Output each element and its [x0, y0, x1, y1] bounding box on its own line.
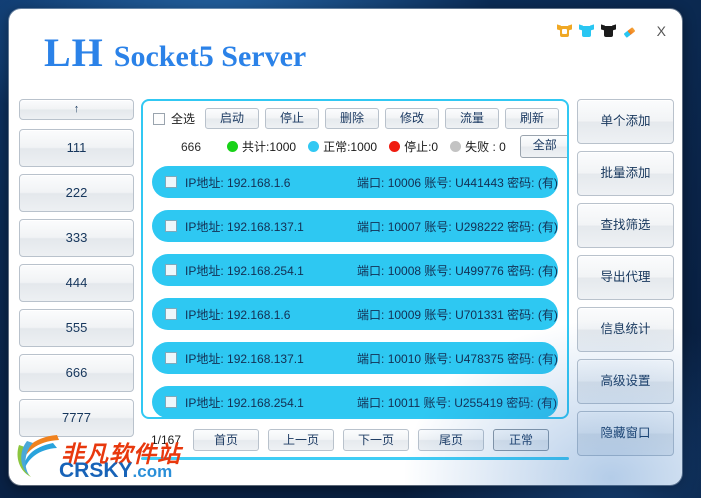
- page-title: LHSocket5 Server: [44, 33, 306, 73]
- search-filter-button[interactable]: 查找筛选: [577, 203, 674, 248]
- scroll-up-button[interactable]: ↑: [19, 99, 134, 120]
- filter-all-button[interactable]: 全部: [520, 135, 569, 158]
- row-checkbox[interactable]: [165, 220, 177, 232]
- stop-button[interactable]: 停止: [265, 108, 319, 129]
- row-checkbox[interactable]: [165, 396, 177, 408]
- row-checkbox[interactable]: [165, 308, 177, 320]
- pagination-underline: [141, 457, 569, 460]
- table-row[interactable]: IP地址: 192.168.137.1 端口: 10007 账号: U29822…: [152, 210, 558, 242]
- sidebar-item-444[interactable]: 444: [19, 264, 134, 302]
- row-details: 端口: 10009 账号: U701331 密码: (有): [357, 306, 558, 323]
- app-title-secondary: Socket5 Server: [114, 40, 306, 73]
- table-row[interactable]: IP地址: 192.168.137.1 端口: 10010 账号: U47837…: [152, 342, 558, 374]
- sidebar-item-333[interactable]: 333: [19, 219, 134, 257]
- left-sidebar: ↑ 111 222 333 444 555 666 7777: [19, 99, 134, 444]
- status-badge-stopped: 停止:0: [404, 138, 438, 155]
- status-badge-failed: 失败 : 0: [465, 138, 506, 155]
- sidebar-item-7777[interactable]: 7777: [19, 399, 134, 437]
- row-details: 端口: 10006 账号: U441443 密码: (有): [357, 174, 558, 191]
- add-batch-button[interactable]: 批量添加: [577, 151, 674, 196]
- row-details: 端口: 10011 账号: U255419 密码: (有): [357, 394, 557, 411]
- export-proxy-button[interactable]: 导出代理: [577, 255, 674, 300]
- table-row[interactable]: IP地址: 192.168.254.1 端口: 10008 账号: U49977…: [152, 254, 558, 286]
- row-details: 端口: 10008 账号: U499776 密码: (有): [357, 262, 558, 279]
- status-dot-failed: [450, 141, 461, 152]
- row-ip: IP地址: 192.168.137.1: [185, 350, 357, 367]
- shirt-black-icon[interactable]: [601, 23, 616, 38]
- select-all-checkbox[interactable]: [153, 113, 165, 125]
- toolbar: 全选 启动 停止 删除 修改 流量 刷新: [143, 101, 567, 129]
- proxy-list-panel: 全选 启动 停止 删除 修改 流量 刷新 666 共计:1000 正常:1000…: [141, 99, 569, 419]
- table-row[interactable]: IP地址: 192.168.1.6 端口: 10006 账号: U441443 …: [152, 166, 558, 198]
- row-checkbox[interactable]: [165, 352, 177, 364]
- row-details: 端口: 10007 账号: U298222 密码: (有): [357, 218, 558, 235]
- info-stats-button[interactable]: 信息统计: [577, 307, 674, 352]
- sidebar-item-222[interactable]: 222: [19, 174, 134, 212]
- table-row[interactable]: IP地址: 192.168.254.1 端口: 10011 账号: U25541…: [152, 386, 558, 418]
- title-bar-icon-group: X: [557, 23, 666, 38]
- status-dot-total: [227, 141, 238, 152]
- traffic-button[interactable]: 流量: [445, 108, 499, 129]
- modify-button[interactable]: 修改: [385, 108, 439, 129]
- row-ip: IP地址: 192.168.1.6: [185, 306, 357, 323]
- shirt-orange-icon[interactable]: [557, 23, 572, 38]
- add-single-button[interactable]: 单个添加: [577, 99, 674, 144]
- watermark-text-en: CRSKY.com: [59, 459, 172, 483]
- watermark-brand: CRSKY: [59, 459, 133, 482]
- row-ip: IP地址: 192.168.254.1: [185, 394, 357, 411]
- prev-page-button[interactable]: 上一页: [268, 429, 334, 451]
- row-checkbox[interactable]: [165, 264, 177, 276]
- app-title-primary: LH: [44, 30, 104, 75]
- sidebar-item-555[interactable]: 555: [19, 309, 134, 347]
- first-page-button[interactable]: 首页: [193, 429, 259, 451]
- watermark-tld: .com: [133, 462, 173, 481]
- shirt-cyan-icon[interactable]: [579, 23, 594, 38]
- pencil-icon[interactable]: [623, 23, 638, 38]
- refresh-button[interactable]: 刷新: [505, 108, 559, 129]
- status-dot-stopped: [389, 141, 400, 152]
- row-ip: IP地址: 192.168.1.6: [185, 174, 357, 191]
- row-ip: IP地址: 192.168.137.1: [185, 218, 357, 235]
- hide-window-button[interactable]: 隐藏窗口: [577, 411, 674, 456]
- right-sidebar: 单个添加 批量添加 查找筛选 导出代理 信息统计 高级设置 隐藏窗口: [577, 99, 674, 463]
- last-page-button[interactable]: 尾页: [418, 429, 484, 451]
- status-dot-normal: [308, 141, 319, 152]
- proxy-list: IP地址: 192.168.1.6 端口: 10006 账号: U441443 …: [143, 158, 567, 418]
- page-indicator: 1/167: [151, 433, 181, 447]
- status-summary: 666 共计:1000 正常:1000 停止:0 失败 : 0 全部: [143, 129, 567, 158]
- close-button[interactable]: X: [657, 24, 666, 38]
- delete-button[interactable]: 删除: [325, 108, 379, 129]
- advanced-settings-button[interactable]: 高级设置: [577, 359, 674, 404]
- window-body: ↑ 111 222 333 444 555 666 7777 全选 启动 停止 …: [9, 91, 682, 485]
- title-bar: LHSocket5 Server X: [9, 9, 682, 91]
- row-details: 端口: 10010 账号: U478375 密码: (有): [357, 350, 558, 367]
- row-ip: IP地址: 192.168.254.1: [185, 262, 357, 279]
- status-badge-normal: 正常:1000: [323, 138, 377, 155]
- stats-count: 666: [181, 140, 201, 154]
- table-row[interactable]: IP地址: 192.168.1.6 端口: 10009 账号: U701331 …: [152, 298, 558, 330]
- start-button[interactable]: 启动: [205, 108, 259, 129]
- app-window: LHSocket5 Server X ↑ 111 222 333 444 555…: [9, 9, 682, 485]
- row-checkbox[interactable]: [165, 176, 177, 188]
- select-all-label: 全选: [171, 110, 195, 127]
- pagination-bar: 1/167 首页 上一页 下一页 尾页 正常: [141, 429, 569, 451]
- status-badge[interactable]: 正常: [493, 429, 549, 451]
- next-page-button[interactable]: 下一页: [343, 429, 409, 451]
- desktop-background: LHSocket5 Server X ↑ 111 222 333 444 555…: [0, 0, 701, 498]
- status-badge-total: 共计:1000: [242, 138, 296, 155]
- sidebar-item-666[interactable]: 666: [19, 354, 134, 392]
- sidebar-item-111[interactable]: 111: [19, 129, 134, 167]
